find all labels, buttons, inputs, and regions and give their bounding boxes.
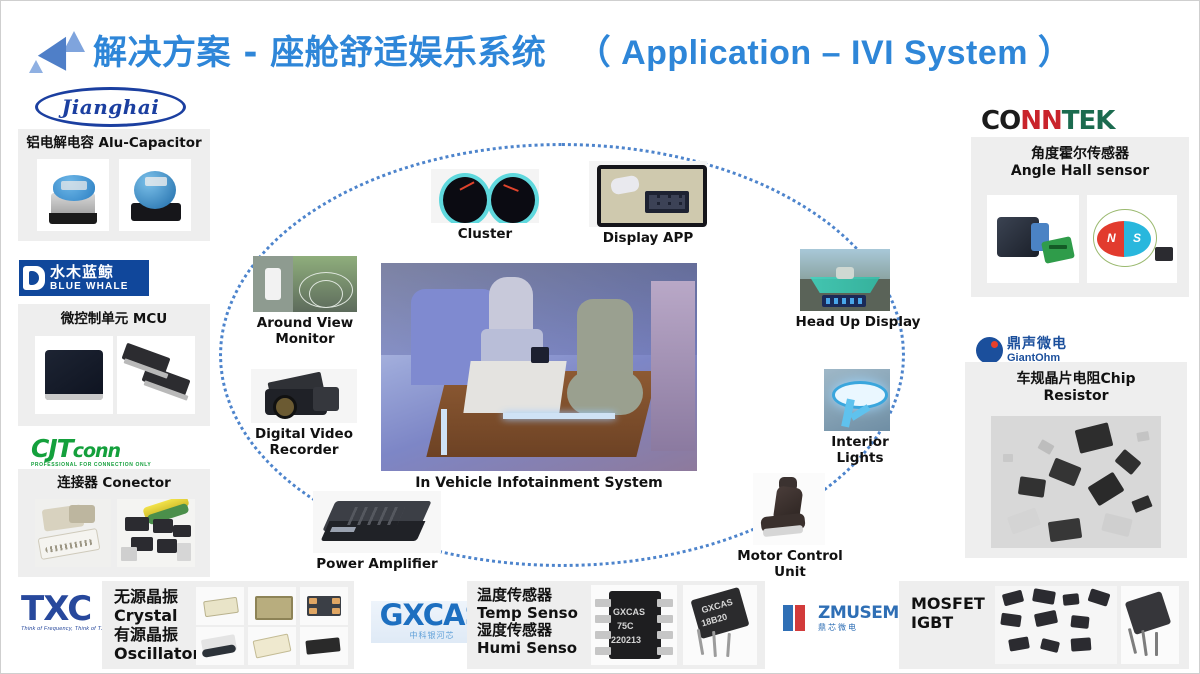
giantohm-name-cn: 鼎声微电 bbox=[1007, 337, 1067, 351]
thumb-mcu-soic bbox=[117, 336, 195, 414]
node-around-view-monitor[interactable]: Around View Monitor bbox=[253, 256, 357, 356]
thumb-mosfet-package-array bbox=[995, 586, 1117, 664]
node-interior-lights[interactable]: Interior Lights bbox=[806, 369, 914, 469]
image-car-interior-cabin bbox=[381, 263, 697, 471]
thumb-magnet-ns-pole: N S bbox=[1087, 195, 1177, 283]
thumb-gxcas-soic-chip: GXCAS 75C 220213 bbox=[591, 585, 677, 665]
txc-line-1: 无源晶振 bbox=[114, 588, 200, 607]
image-hud-road-overlay bbox=[800, 249, 890, 311]
image-interior-dome-light bbox=[824, 369, 890, 431]
bluewhale-name-en: BLUE WHALE bbox=[50, 282, 129, 292]
conntek-wordmark-part2: NN bbox=[1020, 106, 1062, 136]
panel-chip-resistor: 车规晶片电阻Chip Resistor bbox=[965, 362, 1187, 558]
thumb-black-connectors bbox=[117, 499, 195, 567]
panel-crystal-oscillator: 无源晶振 Crystal 有源晶振 Oscillator bbox=[102, 581, 354, 669]
image-dashcam-device bbox=[251, 369, 357, 423]
txc-line-3: 有源晶振 bbox=[114, 626, 200, 645]
brand-logo-jianghai: Jianghai bbox=[35, 87, 186, 127]
page-title-en: （ Application – IVI System ） bbox=[577, 34, 1073, 72]
brand-logo-cjtconn: CJTconn PROFESSIONAL FOR CONNECTION ONLY bbox=[31, 436, 161, 468]
zmusemi-name-cn: 鼎芯微电 bbox=[818, 624, 905, 632]
zmusemi-name-en: ZMUSEMI bbox=[818, 605, 905, 622]
node-motor-control-unit[interactable]: Motor Control Unit bbox=[725, 473, 855, 567]
brand-logo-zmusemi: ZMUSEMI 鼎芯微电 bbox=[783, 598, 909, 638]
image-around-view-birdseye bbox=[253, 256, 357, 312]
bluewhale-name-cn: 水木蓝鲸 bbox=[50, 265, 129, 280]
panel-mcu: 微控制单元 MCU bbox=[18, 304, 210, 426]
panel-title-mcu: 微控制单元 MCU bbox=[18, 304, 210, 328]
panel-mosfet-igbt: MOSFET IGBT bbox=[899, 581, 1189, 669]
thumb-crystal-1 bbox=[196, 587, 244, 625]
thumb-crystal-2 bbox=[248, 587, 296, 625]
page-title: 解决方案 - 座舱舒适娱乐系统 （ Application – IVI Syst… bbox=[93, 25, 1072, 74]
zmusemi-line-1: MOSFET bbox=[911, 595, 985, 614]
thumb-gxcas-to92-chip: GXCAS 18B20 bbox=[683, 585, 757, 665]
panel-angle-hall-sensor: 角度霍尔传感器 Angle Hall sensor N S bbox=[971, 137, 1189, 297]
label-interior-lights: Interior Lights bbox=[806, 435, 914, 466]
image-twin-gauge-cluster bbox=[431, 169, 539, 223]
slide-root: 解决方案 - 座舱舒适娱乐系统 （ Application – IVI Syst… bbox=[1, 1, 1199, 673]
thumb-oscillator-1 bbox=[196, 627, 244, 665]
image-powered-car-seat bbox=[753, 473, 825, 545]
page-title-cn: 解决方案 - 座舱舒适娱乐系统 bbox=[93, 33, 546, 73]
thumb-oscillator-3 bbox=[300, 627, 348, 665]
gxcas-line-3: 湿度传感器 bbox=[477, 622, 587, 640]
conntek-wordmark-part3: TEK bbox=[1062, 106, 1115, 136]
node-cluster[interactable]: Cluster bbox=[431, 169, 539, 259]
image-amplifier-box bbox=[313, 491, 441, 553]
node-head-up-display[interactable]: Head Up Display bbox=[794, 249, 922, 349]
panel-title-angle-hall-cn: 角度霍尔传感器 bbox=[971, 137, 1189, 163]
label-display-app: Display APP bbox=[589, 231, 707, 247]
jianghai-wordmark: Jianghai bbox=[62, 95, 160, 119]
image-center-touchscreen-map bbox=[589, 161, 707, 227]
thumb-igbt-to247 bbox=[1121, 586, 1179, 664]
txc-line-4: Oscillator bbox=[114, 645, 200, 664]
thumb-oscillator-2 bbox=[248, 627, 296, 665]
slide-header: 解决方案 - 座舱舒适娱乐系统 （ Application – IVI Syst… bbox=[1, 11, 1200, 73]
brand-logo-bluewhale: 水木蓝鲸 BLUE WHALE bbox=[19, 260, 149, 296]
thumb-chip-resistors bbox=[991, 416, 1161, 548]
panel-title-connector: 连接器 Conector bbox=[18, 469, 210, 492]
brand-logo-conntek: CONNTEK bbox=[981, 106, 1131, 136]
thumb-alu-capacitor-smd bbox=[119, 159, 191, 231]
label-cluster: Cluster bbox=[431, 227, 539, 243]
triangles-logo-icon bbox=[27, 31, 89, 79]
panel-connector: 连接器 Conector bbox=[18, 469, 210, 577]
panel-alu-capacitor: 铝电解电容 Alu-Capacitor bbox=[18, 129, 210, 241]
chip-mark-line2: 75C bbox=[617, 621, 634, 631]
node-display-app[interactable]: Display APP bbox=[589, 161, 707, 261]
label-digital-video-recorder: Digital Video Recorder bbox=[251, 427, 357, 458]
thumb-mcu-qfp bbox=[35, 336, 113, 414]
panel-title-chip-resistor-en: Resistor bbox=[965, 388, 1187, 405]
node-power-amplifier[interactable]: Power Amplifier bbox=[313, 491, 441, 585]
label-around-view-monitor: Around View Monitor bbox=[253, 316, 357, 347]
node-digital-video-recorder[interactable]: Digital Video Recorder bbox=[251, 369, 357, 469]
txc-line-2: Crystal bbox=[114, 607, 200, 626]
node-in-vehicle-infotainment-system[interactable]: In Vehicle Infotainment System bbox=[381, 263, 697, 471]
panel-title-alu-capacitor: 铝电解电容 Alu-Capacitor bbox=[18, 129, 210, 152]
thumb-alu-capacitor-blue-top bbox=[37, 159, 109, 231]
zmusemi-line-2: IGBT bbox=[911, 614, 985, 633]
panel-title-chip-resistor-cn: 车规晶片电阻Chip bbox=[965, 362, 1187, 388]
gxcas-line-4: Humi Senso bbox=[477, 640, 587, 658]
chip-mark-line1: GXCAS bbox=[613, 607, 645, 617]
thumb-crystal-3 bbox=[300, 587, 348, 625]
panel-title-angle-hall-en: Angle Hall sensor bbox=[971, 163, 1189, 180]
thumb-hall-sensor-module bbox=[987, 195, 1079, 283]
label-power-amplifier: Power Amplifier bbox=[313, 557, 441, 573]
gxcas-line-2: Temp Senso bbox=[477, 605, 587, 623]
cjt-tagline: PROFESSIONAL FOR CONNECTION ONLY bbox=[31, 462, 161, 468]
zmusemi-mark-icon bbox=[783, 605, 813, 631]
gxcas-line-1: 温度传感器 bbox=[477, 587, 587, 605]
bluewhale-mark-icon bbox=[23, 266, 45, 290]
label-head-up-display: Head Up Display bbox=[794, 315, 922, 331]
chip-mark-line3: 220213 bbox=[611, 635, 641, 645]
label-motor-control-unit: Motor Control Unit bbox=[725, 549, 855, 580]
conntek-wordmark-part1: CO bbox=[981, 106, 1020, 136]
panel-temp-humi-sensor: 温度传感器 Temp Senso 湿度传感器 Humi Senso GXCAS … bbox=[467, 581, 765, 669]
cjt-wordmark: CJTconn bbox=[31, 436, 161, 461]
giantohm-mark-icon bbox=[976, 337, 1003, 364]
label-in-vehicle-infotainment-system: In Vehicle Infotainment System bbox=[381, 475, 697, 491]
thumb-white-connectors bbox=[35, 499, 111, 567]
